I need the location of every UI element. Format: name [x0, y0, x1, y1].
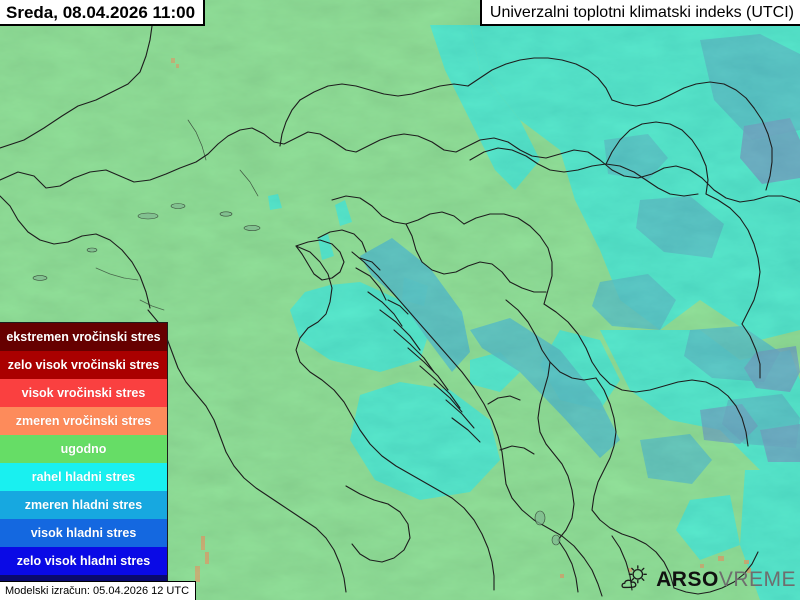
utci-map-viewer: Sreda, 08.04.2026 11:00 Univerzalni topl…	[0, 0, 800, 600]
legend-item-very-strong-cold[interactable]: zelo visok hladni stres	[0, 547, 167, 575]
legend-item-slight-cold[interactable]: rahel hladni stres	[0, 463, 167, 491]
legend-item-moderate-heat[interactable]: zmeren vročinski stres	[0, 407, 167, 435]
product-title: Univerzalni toplotni klimatski indeks (U…	[480, 0, 800, 26]
legend-item-comfortable[interactable]: ugodno	[0, 435, 167, 463]
datetime-title: Sreda, 08.04.2026 11:00	[0, 0, 205, 26]
legend-item-strong-cold[interactable]: visok hladni stres	[0, 519, 167, 547]
utci-legend[interactable]: ekstremen vročinski stres zelo visok vro…	[0, 322, 168, 600]
legend-item-moderate-cold[interactable]: zmeren hladni stres	[0, 491, 167, 519]
legend-item-very-strong-heat[interactable]: zelo visok vročinski stres	[0, 351, 167, 379]
arso-vreme-logo[interactable]: ARSOVREME	[620, 564, 796, 594]
logo-secondary-text: VREME	[719, 568, 796, 591]
model-run-note: Modelski izračun: 05.04.2026 12 UTC	[0, 581, 196, 600]
legend-item-extreme-heat[interactable]: ekstremen vročinski stres	[0, 323, 167, 351]
logo-primary-text: ARSO	[656, 568, 719, 591]
legend-item-strong-heat[interactable]: visok vročinski stres	[0, 379, 167, 407]
sun-behind-cloud-icon	[620, 564, 650, 594]
